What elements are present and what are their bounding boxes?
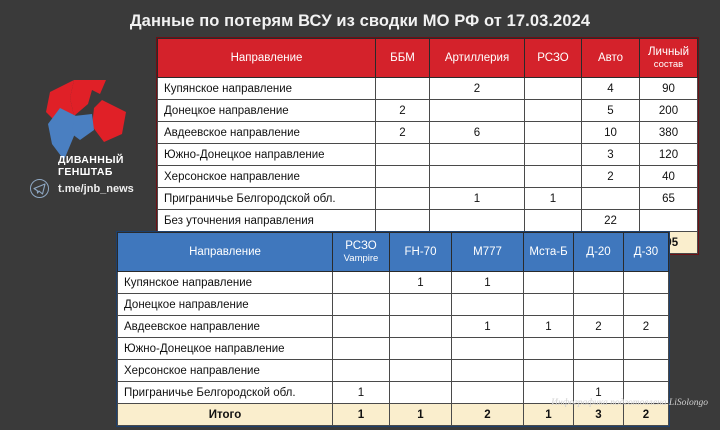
channel-handle: t.me/jnb_news [58, 183, 134, 195]
cell-vehicles: 3 [582, 144, 640, 166]
cell-fh70 [390, 294, 452, 316]
cell-personnel: 90 [640, 78, 698, 100]
table-artillery-systems: Направление РСЗО Vampire FH-70 M777 Мста… [117, 232, 669, 426]
cell-vehicles [582, 188, 640, 210]
cell-mlrs-vampire: 1 [333, 382, 390, 404]
col-header-fh70: FH-70 [390, 233, 452, 272]
row-direction: Херсонское направление [118, 360, 333, 382]
cell-mlrs: 1 [525, 188, 582, 210]
cell-msta-b [524, 272, 574, 294]
col-header-mlrs: РСЗО [525, 39, 582, 78]
col-header-mlrs-vampire: РСЗО Vampire [333, 233, 390, 272]
cell-d20 [574, 272, 624, 294]
table-row: Донецкое направление [118, 294, 669, 316]
table-artillery-header-row: Направление РСЗО Vampire FH-70 M777 Мста… [118, 233, 669, 272]
cell-mlrs [525, 122, 582, 144]
cell-fh70 [390, 360, 452, 382]
cell-m777 [452, 382, 524, 404]
emblem-icon [30, 78, 134, 164]
col-header-mlrs-main: РСЗО [345, 240, 376, 252]
cell-personnel: 40 [640, 166, 698, 188]
col-header-direction: Направление [118, 233, 333, 272]
cell-d30 [624, 272, 669, 294]
total-m777: 2 [452, 404, 524, 426]
cell-bbm [376, 210, 430, 232]
cell-bbm [376, 78, 430, 100]
cell-artillery: 1 [430, 188, 525, 210]
col-header-direction: Направление [158, 39, 376, 78]
cell-fh70: 1 [390, 272, 452, 294]
row-direction: Херсонское направление [158, 166, 376, 188]
row-direction: Приграничье Белгородской обл. [158, 188, 376, 210]
cell-artillery: 2 [430, 78, 525, 100]
cell-personnel [640, 210, 698, 232]
total-mlrs-vampire: 1 [333, 404, 390, 426]
cell-vehicles: 2 [582, 166, 640, 188]
row-direction: Южно-Донецкое направление [158, 144, 376, 166]
cell-artillery [430, 100, 525, 122]
cell-d30 [624, 360, 669, 382]
row-direction: Приграничье Белгородской обл. [118, 382, 333, 404]
cell-mlrs [525, 100, 582, 122]
table-row: Авдеевское направление 2 6 10 380 [158, 122, 698, 144]
cell-fh70 [390, 316, 452, 338]
cell-bbm [376, 144, 430, 166]
cell-mlrs [525, 166, 582, 188]
col-header-personnel-main: Личный [648, 46, 689, 58]
table-row: Приграничье Белгородской обл. 1 1 65 [158, 188, 698, 210]
table-row: Южно-Донецкое направление 3 120 [158, 144, 698, 166]
cell-m777: 1 [452, 316, 524, 338]
total-fh70: 1 [390, 404, 452, 426]
cell-d30 [624, 294, 669, 316]
cell-vehicles: 22 [582, 210, 640, 232]
col-header-personnel-sub: состав [640, 59, 697, 71]
table-row: Без уточнения направления 22 [158, 210, 698, 232]
col-header-personnel: Личный состав [640, 39, 698, 78]
row-direction: Купянское направление [118, 272, 333, 294]
cell-mlrs-vampire [333, 338, 390, 360]
credit-text: Инфографика подготовлена LiSolongo [551, 398, 708, 408]
row-direction: Донецкое направление [118, 294, 333, 316]
cell-bbm [376, 166, 430, 188]
col-header-d30: Д-30 [624, 233, 669, 272]
table-row: Херсонское направление 2 40 [158, 166, 698, 188]
cell-msta-b [524, 360, 574, 382]
cell-personnel: 65 [640, 188, 698, 210]
table-row: Авдеевское направление 1 1 2 2 [118, 316, 669, 338]
cell-artillery [430, 144, 525, 166]
total-label: Итого [118, 404, 333, 426]
row-direction: Донецкое направление [158, 100, 376, 122]
cell-personnel: 200 [640, 100, 698, 122]
table-row: Донецкое направление 2 5 200 [158, 100, 698, 122]
row-direction: Авдеевское направление [118, 316, 333, 338]
table-losses-header-row: Направление ББМ Артиллерия РСЗО Авто Лич… [158, 39, 698, 78]
table-row: Южно-Донецкое направление [118, 338, 669, 360]
cell-m777 [452, 294, 524, 316]
cell-personnel: 380 [640, 122, 698, 144]
channel-logo-block: ДИВАННЫЙ ГЕНШТАБ t.me/jnb_news [8, 78, 148, 208]
cell-personnel: 120 [640, 144, 698, 166]
col-header-vehicles: Авто [582, 39, 640, 78]
cell-m777: 1 [452, 272, 524, 294]
cell-mlrs-vampire [333, 316, 390, 338]
col-header-d20: Д-20 [574, 233, 624, 272]
cell-m777 [452, 338, 524, 360]
table-row: Херсонское направление [118, 360, 669, 382]
channel-name-line2: ГЕНШТАБ [58, 166, 113, 178]
col-header-m777: M777 [452, 233, 524, 272]
cell-mlrs [525, 210, 582, 232]
cell-mlrs-vampire [333, 294, 390, 316]
cell-mlrs [525, 144, 582, 166]
cell-artillery [430, 210, 525, 232]
channel-name: ДИВАННЫЙ ГЕНШТАБ [58, 154, 150, 178]
cell-d20 [574, 294, 624, 316]
cell-bbm: 2 [376, 100, 430, 122]
row-direction: Купянское направление [158, 78, 376, 100]
cell-bbm: 2 [376, 122, 430, 144]
telegram-icon [30, 179, 49, 198]
row-direction: Без уточнения направления [158, 210, 376, 232]
cell-d30: 2 [624, 316, 669, 338]
col-header-bbm: ББМ [376, 39, 430, 78]
cell-mlrs-vampire [333, 272, 390, 294]
cell-mlrs [525, 78, 582, 100]
cell-m777 [452, 360, 524, 382]
col-header-artillery: Артиллерия [430, 39, 525, 78]
cell-d20 [574, 338, 624, 360]
table-losses: Направление ББМ Артиллерия РСЗО Авто Лич… [157, 38, 698, 254]
table-row: Купянское направление 2 4 90 [158, 78, 698, 100]
cell-msta-b: 1 [524, 316, 574, 338]
cell-artillery [430, 166, 525, 188]
cell-fh70 [390, 382, 452, 404]
table-row: Купянское направление 1 1 [118, 272, 669, 294]
col-header-msta-b: Мста-Б [524, 233, 574, 272]
cell-vehicles: 4 [582, 78, 640, 100]
cell-msta-b [524, 294, 574, 316]
cell-vehicles: 5 [582, 100, 640, 122]
cell-msta-b [524, 338, 574, 360]
cell-d20 [574, 360, 624, 382]
page-title: Данные по потерям ВСУ из сводки МО РФ от… [0, 12, 720, 31]
cell-artillery: 6 [430, 122, 525, 144]
col-header-mlrs-sub: Vampire [333, 253, 389, 265]
cell-mlrs-vampire [333, 360, 390, 382]
row-direction: Южно-Донецкое направление [118, 338, 333, 360]
cell-bbm [376, 188, 430, 210]
table-losses-body: Купянское направление 2 4 90 Донецкое на… [158, 78, 698, 254]
cell-fh70 [390, 338, 452, 360]
channel-name-line1: ДИВАННЫЙ [58, 154, 124, 166]
infographic-canvas: Данные по потерям ВСУ из сводки МО РФ от… [0, 0, 720, 430]
row-direction: Авдеевское направление [158, 122, 376, 144]
cell-d30 [624, 338, 669, 360]
cell-d20: 2 [574, 316, 624, 338]
cell-vehicles: 10 [582, 122, 640, 144]
